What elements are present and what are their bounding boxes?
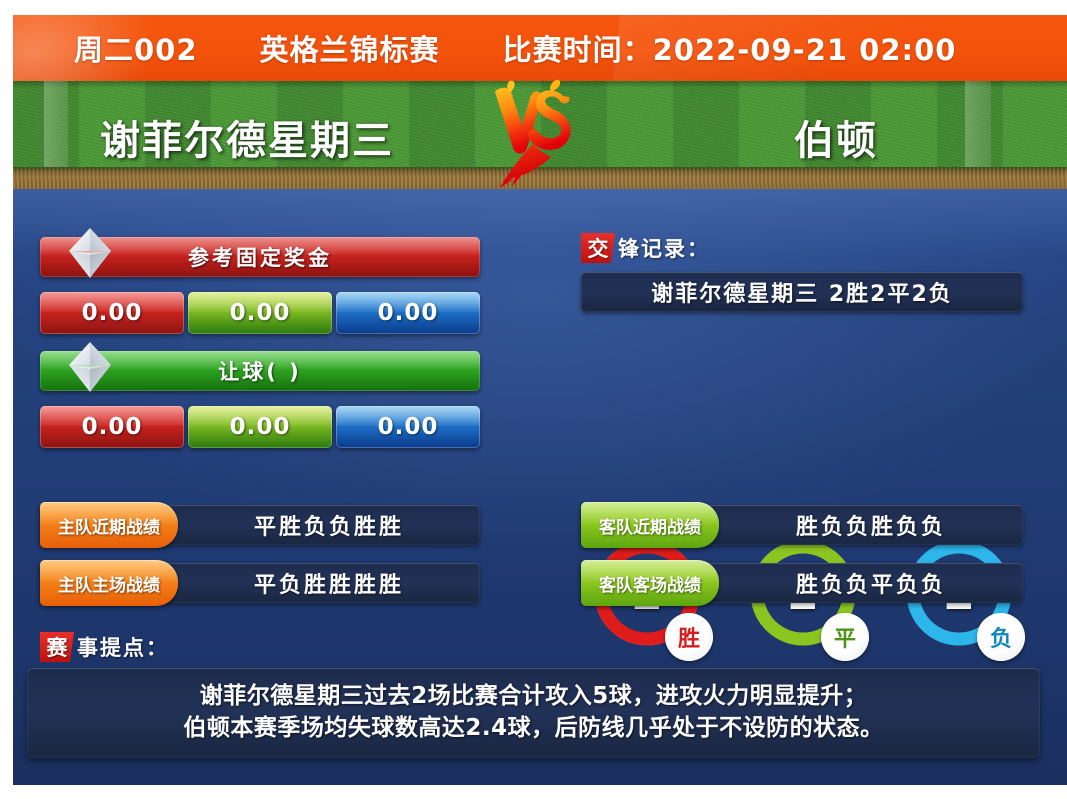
home-home-form-value: 平负胜胜胜胜	[178, 563, 480, 603]
tip-line-1: 谢菲尔德星期三过去2场比赛合计攻入5球，进攻火力明显提升；	[200, 681, 868, 713]
fixed-bonus-title: 参考固定奖金	[40, 237, 480, 277]
league-name-label: 英格兰锦标赛	[260, 27, 440, 69]
handicap-lose-value: 0.00	[336, 406, 480, 448]
handicap-title: 让球( )	[40, 351, 480, 391]
match-round-label: 周二002	[74, 27, 198, 69]
tips-section-tag: 赛 事提点：	[40, 632, 169, 662]
h2h-lose-badge: 负	[977, 613, 1025, 661]
away-team-name: 伯顿	[794, 108, 878, 166]
h2h-summary-bar: 谢菲尔德星期三 2胜2平2负	[581, 272, 1023, 312]
away-away-form-tab[interactable]: 客队客场战绩	[581, 560, 719, 606]
home-home-form-tab[interactable]: 主队主场战绩	[40, 560, 178, 606]
h2h-section-tag: 交 锋记录：	[581, 233, 710, 263]
h2h-summary-text: 谢菲尔德星期三 2胜2平2负	[651, 276, 953, 308]
home-recent-form-value: 平胜负负胜胜	[178, 505, 480, 545]
fixed-bonus-lose-odds[interactable]: 0.00	[336, 292, 480, 334]
tips-tag-text: 事提点：	[77, 632, 169, 662]
away-away-form-value: 胜负负平负负	[719, 563, 1023, 603]
handicap-win-value: 0.00	[40, 406, 184, 448]
away-recent-form-tab[interactable]: 客队近期战绩	[581, 502, 719, 548]
fixed-bonus-draw-value: 0.00	[188, 292, 332, 334]
home-home-form-tab-label: 主队主场战绩	[58, 571, 160, 596]
match-time-label: 比赛时间：2022-09-21 02:00	[503, 27, 957, 69]
h2h-win-badge: 胜	[665, 613, 713, 661]
handicap-win-odds[interactable]: 0.00	[40, 406, 184, 448]
away-recent-form-value: 胜负负胜负负	[719, 505, 1023, 545]
fixed-bonus-title-bar: 参考固定奖金	[40, 237, 480, 277]
pitch-line-right	[965, 81, 991, 171]
fixed-bonus-draw-odds[interactable]: 0.00	[188, 292, 332, 334]
handicap-lose-odds[interactable]: 0.00	[336, 406, 480, 448]
h2h-draw-badge: 平	[821, 613, 869, 661]
home-home-form-row: 主队主场战绩 平负胜胜胜胜	[40, 563, 480, 603]
match-tips-box: 谢菲尔德星期三过去2场比赛合计攻入5球，进攻火力明显提升； 伯顿本赛季场均失球数…	[27, 668, 1040, 758]
handicap-draw-odds[interactable]: 0.00	[188, 406, 332, 448]
handicap-title-bar: 让球( )	[40, 351, 480, 391]
home-recent-form-tab-label: 主队近期战绩	[58, 513, 160, 538]
fixed-bonus-win-odds[interactable]: 0.00	[40, 292, 184, 334]
fixed-bonus-win-value: 0.00	[40, 292, 184, 334]
handicap-draw-value: 0.00	[188, 406, 332, 448]
fixed-bonus-lose-value: 0.00	[336, 292, 480, 334]
h2h-tag-text: 锋记录：	[618, 233, 710, 263]
tip-line-2: 伯顿本赛季场均失球数高达2.4球，后防线几乎处于不设防的状态。	[183, 713, 883, 745]
tips-tag-chip: 赛	[40, 632, 74, 662]
away-recent-form-row: 客队近期战绩 胜负负胜负负	[581, 505, 1023, 545]
home-recent-form-row: 主队近期战绩 平胜负负胜胜	[40, 505, 480, 545]
vs-flame-icon	[481, 78, 581, 188]
away-recent-form-tab-label: 客队近期战绩	[599, 513, 701, 538]
home-team-name: 谢菲尔德星期三	[100, 108, 394, 166]
match-header-banner: 周二002 英格兰锦标赛 比赛时间：2022-09-21 02:00	[13, 15, 1067, 81]
pitch-line-left	[44, 81, 68, 171]
away-away-form-tab-label: 客队客场战绩	[599, 571, 701, 596]
home-recent-form-tab[interactable]: 主队近期战绩	[40, 502, 178, 548]
match-preview-page: 周二002 英格兰锦标赛 比赛时间：2022-09-21 02:00 谢菲尔德星…	[0, 0, 1067, 799]
away-away-form-row: 客队客场战绩 胜负负平负负	[581, 563, 1023, 603]
h2h-tag-chip: 交	[581, 233, 615, 263]
